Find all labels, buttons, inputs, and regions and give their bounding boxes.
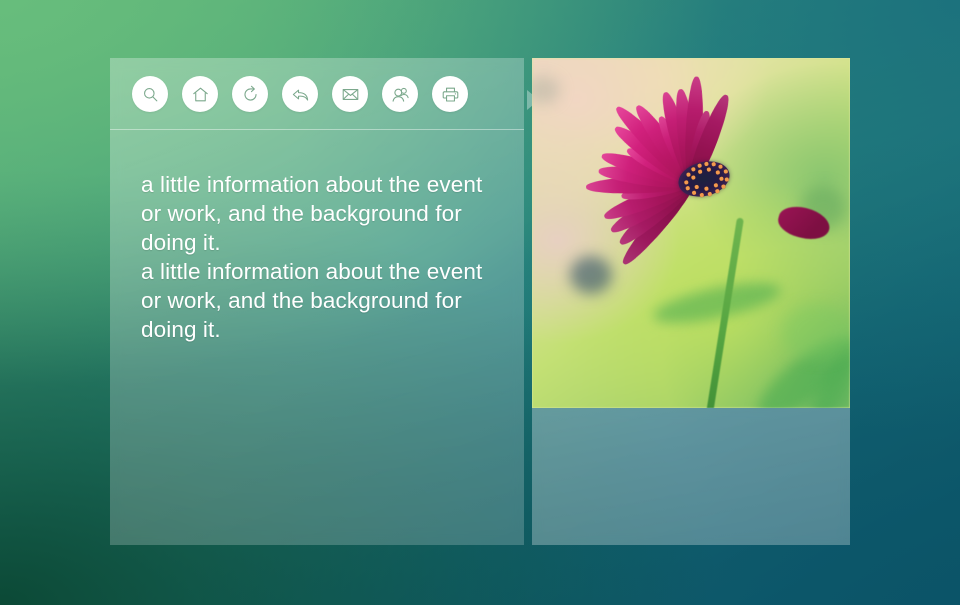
contacts-button[interactable] [382, 76, 418, 112]
home-button[interactable] [182, 76, 218, 112]
search-button[interactable] [132, 76, 168, 112]
refresh-icon [241, 85, 260, 104]
flower-stamen-dot [715, 170, 720, 175]
print-button[interactable] [432, 76, 468, 112]
contacts-icon [391, 85, 410, 104]
refresh-button[interactable] [232, 76, 268, 112]
flower-stamen-dot [698, 169, 703, 174]
flower-head [592, 104, 812, 254]
flower-stamen-dot [721, 184, 726, 189]
bokeh-circle [782, 304, 850, 360]
flower-stamen-dot [715, 189, 720, 194]
flower-stamen-dot [707, 192, 712, 197]
card-body: a little information about the event or … [110, 130, 524, 344]
flower-stamen-dot [718, 164, 723, 169]
flower-stamen-dot [704, 186, 709, 191]
flower-stamen-dot [719, 176, 724, 181]
flower-stamen-dot [704, 162, 709, 167]
info-paragraph-1: a little information about the event or … [141, 170, 486, 257]
flower-stamen-dot [685, 186, 690, 191]
media-column [532, 58, 850, 545]
print-icon [441, 85, 460, 104]
flower-photo[interactable] [532, 58, 850, 408]
flower-stamen-dot [711, 162, 716, 167]
flower-stamen-dot [724, 177, 729, 182]
search-icon [141, 85, 160, 104]
desktop-background: a little information about the event or … [0, 0, 960, 605]
flower-stamen-dot [697, 163, 702, 168]
bokeh-circle [570, 256, 612, 294]
flower-stamen-dot [692, 190, 697, 195]
flower-stamen-dot [691, 167, 696, 172]
reply-button[interactable] [282, 76, 318, 112]
flower-stamen-dot [691, 175, 696, 180]
info-card-panel: a little information about the event or … [110, 58, 524, 545]
flower-stamen-dot [694, 185, 699, 190]
mail-icon [341, 85, 360, 104]
flower-stamen-dot [699, 193, 704, 198]
info-paragraph-2: a little information about the event or … [141, 257, 486, 344]
mail-button[interactable] [332, 76, 368, 112]
flower-stamen-dot [706, 167, 711, 172]
flower-stamen-dot [723, 169, 728, 174]
reply-icon [291, 85, 310, 104]
flower-stamen-dot [684, 180, 689, 185]
photo-caption-panel [532, 408, 850, 545]
card-toolbar [110, 58, 524, 130]
flower-stamen-dot [713, 183, 718, 188]
home-icon [191, 85, 210, 104]
